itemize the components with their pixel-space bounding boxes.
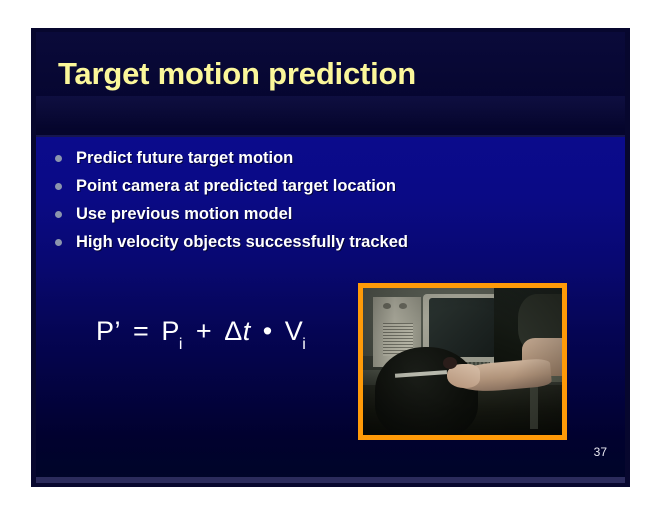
- equation-lhs-symbol: P: [96, 316, 115, 346]
- slide-bottom-strip: [36, 477, 625, 483]
- slide-body: Predict future target motion Point camer…: [36, 137, 625, 477]
- bullet-dot-icon: [55, 155, 62, 162]
- photo-vignette: [363, 288, 562, 435]
- list-item-label: High velocity objects successfully track…: [76, 229, 408, 255]
- equation-delta-variable: t: [243, 316, 251, 346]
- equation-term2-subscript: i: [302, 336, 306, 353]
- equation-term1-subscript: i: [179, 336, 183, 353]
- equation-multiply-dot: •: [263, 316, 273, 346]
- slide-title-band: Target motion prediction: [36, 32, 625, 136]
- photo-content: [363, 288, 562, 435]
- prediction-equation: P’ = Pi + Δt • Vi: [96, 316, 307, 351]
- list-item: High velocity objects successfully track…: [55, 229, 595, 257]
- equation-term1-symbol: P: [161, 316, 180, 346]
- list-item-label: Predict future target motion: [76, 145, 293, 171]
- list-item: Point camera at predicted target locatio…: [55, 173, 595, 201]
- equation-delta: Δ: [224, 316, 243, 346]
- page-title: Target motion prediction: [58, 56, 416, 92]
- list-item: Predict future target motion: [55, 145, 595, 173]
- slide-canvas: Target motion prediction Predict future …: [0, 0, 660, 510]
- bullet-dot-icon: [55, 183, 62, 190]
- title-band-sheen: [36, 96, 625, 127]
- bullet-dot-icon: [55, 239, 62, 246]
- list-item-label: Point camera at predicted target locatio…: [76, 173, 396, 199]
- list-item-label: Use previous motion model: [76, 201, 292, 227]
- list-item: Use previous motion model: [55, 201, 595, 229]
- bullet-list: Predict future target motion Point camer…: [55, 145, 595, 257]
- equation-term2-symbol: V: [285, 316, 304, 346]
- tracking-photo: [358, 283, 567, 440]
- slide-number: 37: [594, 445, 607, 459]
- presentation-slide: Target motion prediction Predict future …: [31, 28, 630, 487]
- bullet-dot-icon: [55, 211, 62, 218]
- equation-plus: +: [196, 316, 212, 346]
- equation-equals: =: [133, 316, 149, 346]
